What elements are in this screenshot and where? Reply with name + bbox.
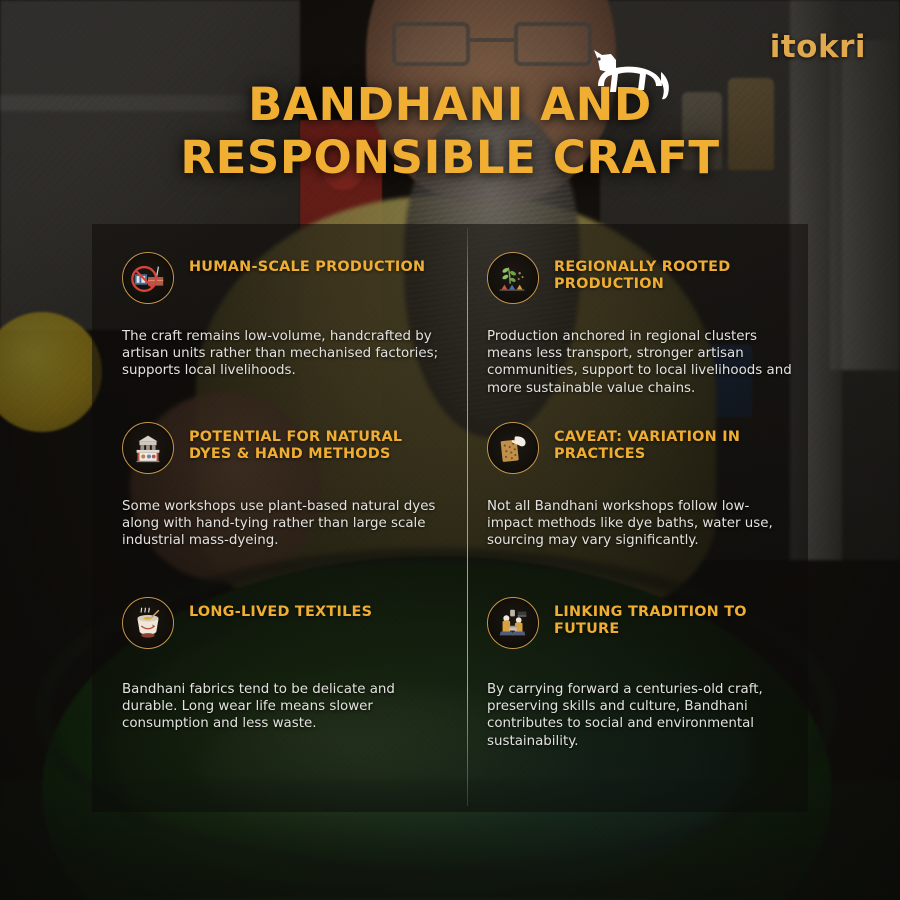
card-heading: REGIONALLY ROOTED PRODUCTION — [554, 252, 792, 293]
workshop-building-icon — [122, 422, 174, 474]
page-title: BANDHANI AND RESPONSIBLE CRAFT — [0, 78, 900, 184]
card-heading: POTENTIAL FOR NATURAL DYES & HAND METHOD… — [189, 422, 429, 463]
two-artisans-seated-icon — [487, 597, 539, 649]
card-header: CAVEAT: VARIATION IN PRACTICES — [487, 422, 792, 474]
card-human-scale-production: HUMAN-SCALE PRODUCTION The craft remains… — [92, 224, 467, 394]
card-header: LONG-LIVED TEXTILES — [122, 597, 445, 649]
cards-grid: HUMAN-SCALE PRODUCTION The craft remains… — [92, 224, 808, 812]
card-body: By carrying forward a centuries-old craf… — [487, 681, 792, 750]
card-long-lived-textiles: LONG-LIVED TEXTILES Bandhani fabrics ten… — [92, 569, 467, 812]
no-factory-machine-icon — [122, 252, 174, 304]
card-body: Production anchored in regional clusters… — [487, 328, 792, 397]
card-body: Bandhani fabrics tend to be delicate and… — [122, 681, 445, 733]
dye-pot-steaming-icon — [122, 597, 174, 649]
brand-logo: itokri — [770, 32, 866, 63]
card-body: The craft remains low-volume, handcrafte… — [122, 328, 445, 380]
card-heading: LONG-LIVED TEXTILES — [189, 597, 372, 621]
card-heading: CAVEAT: VARIATION IN PRACTICES — [554, 422, 792, 463]
page-title-line1: BANDHANI AND — [0, 78, 900, 131]
hand-tied-fabric-icon — [487, 422, 539, 474]
card-potential-natural-dyes: POTENTIAL FOR NATURAL DYES & HAND METHOD… — [92, 394, 467, 569]
page-title-line2: RESPONSIBLE CRAFT — [0, 131, 900, 184]
card-header: POTENTIAL FOR NATURAL DYES & HAND METHOD… — [122, 422, 445, 474]
card-caveat-variation: CAVEAT: VARIATION IN PRACTICES Not all B… — [467, 394, 808, 569]
card-heading: HUMAN-SCALE PRODUCTION — [189, 252, 425, 276]
donkey-icon — [578, 46, 674, 114]
plant-natural-dye-icon — [487, 252, 539, 304]
card-body: Some workshops use plant-based natural d… — [122, 498, 445, 550]
card-linking-tradition-future: LINKING TRADITION TO FUTURE By carrying … — [467, 569, 808, 812]
infographic-canvas: itokri BANDHANI AND RESPONSIBLE CRAFT — [0, 0, 900, 900]
card-header: REGIONALLY ROOTED PRODUCTION — [487, 252, 792, 304]
card-body: Not all Bandhani workshops follow low-im… — [487, 498, 792, 550]
card-header: HUMAN-SCALE PRODUCTION — [122, 252, 445, 304]
card-heading: LINKING TRADITION TO FUTURE — [554, 597, 792, 638]
card-regionally-rooted-production: REGIONALLY ROOTED PRODUCTION Production … — [467, 224, 808, 394]
card-header: LINKING TRADITION TO FUTURE — [487, 597, 792, 649]
